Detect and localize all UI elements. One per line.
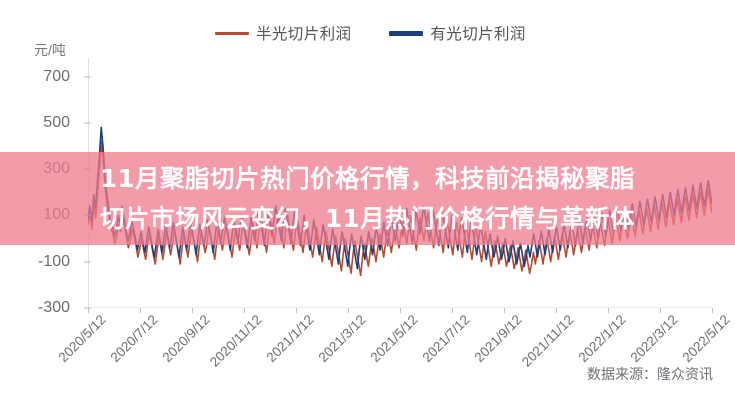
overlay-title-line-1: 11月聚脂切片热门价格行情，科技前沿揭秘聚脂: [100, 159, 635, 199]
x-tick-mark: [452, 308, 453, 313]
x-tick-label: 2022/5/12: [680, 312, 733, 365]
x-tick-label: 2021/3/12: [316, 312, 369, 365]
x-tick-mark: [712, 308, 713, 313]
x-tick-label: 2020/5/12: [56, 312, 109, 365]
x-axis: 2020/5/122020/7/122020/9/122020/11/12202…: [88, 308, 712, 398]
chart-legend: 半光切片利润 有光切片利润: [215, 22, 526, 44]
x-tick-label: 2021/5/12: [368, 312, 421, 365]
overlay-title-banner: 11月聚脂切片热门价格行情，科技前沿揭秘聚脂 切片市场风云变幻，11月热门价格行…: [0, 152, 735, 245]
overlay-title-line-2: 切片市场风云变幻，11月热门价格行情与革新体: [100, 199, 635, 239]
x-tick-label: 2021/1/12: [264, 312, 317, 365]
y-axis-unit-label: 元/吨: [34, 40, 66, 60]
legend-swatch-icon-blue: [389, 31, 423, 36]
x-tick-label: 2020/9/12: [160, 312, 213, 365]
x-tick-mark: [88, 308, 89, 313]
x-tick-mark: [556, 308, 557, 313]
chart-page: 元/吨 半光切片利润 有光切片利润 700500300100-100-300 2…: [0, 0, 735, 400]
x-tick-mark: [400, 308, 401, 313]
legend-item-banguang[interactable]: 半光切片利润: [215, 22, 351, 44]
y-tick-mark: [84, 122, 91, 123]
x-tick-label: 2021/7/12: [420, 312, 473, 365]
y-tick-mark: [84, 76, 91, 77]
y-tick-mark: [84, 261, 91, 262]
legend-swatch-icon-red: [215, 32, 249, 35]
legend-label-youguang: 有光切片利润: [430, 22, 525, 44]
y-tick-label: 500: [43, 114, 70, 132]
x-tick-label: 2022/1/12: [576, 312, 629, 365]
x-tick-label: 2020/7/12: [108, 312, 161, 365]
legend-label-banguang: 半光切片利润: [256, 22, 351, 44]
x-tick-mark: [608, 308, 609, 313]
x-tick-label: 2021/11/12: [519, 312, 577, 370]
x-tick-mark: [504, 308, 505, 313]
x-tick-mark: [140, 308, 141, 313]
legend-item-youguang[interactable]: 有光切片利润: [389, 22, 525, 44]
x-tick-mark: [192, 308, 193, 313]
x-tick-mark: [660, 308, 661, 313]
y-tick-label: 700: [43, 68, 70, 86]
x-tick-mark: [244, 308, 245, 313]
x-tick-label: 2020/11/12: [207, 312, 265, 370]
x-tick-label: 2022/3/12: [628, 312, 681, 365]
source-note: 数据来源：隆众资讯: [587, 364, 713, 384]
x-tick-label: 2021/9/12: [472, 312, 525, 365]
x-tick-mark: [348, 308, 349, 313]
x-tick-mark: [296, 308, 297, 313]
y-tick-label: -100: [38, 253, 70, 271]
y-tick-label: -300: [38, 299, 70, 317]
